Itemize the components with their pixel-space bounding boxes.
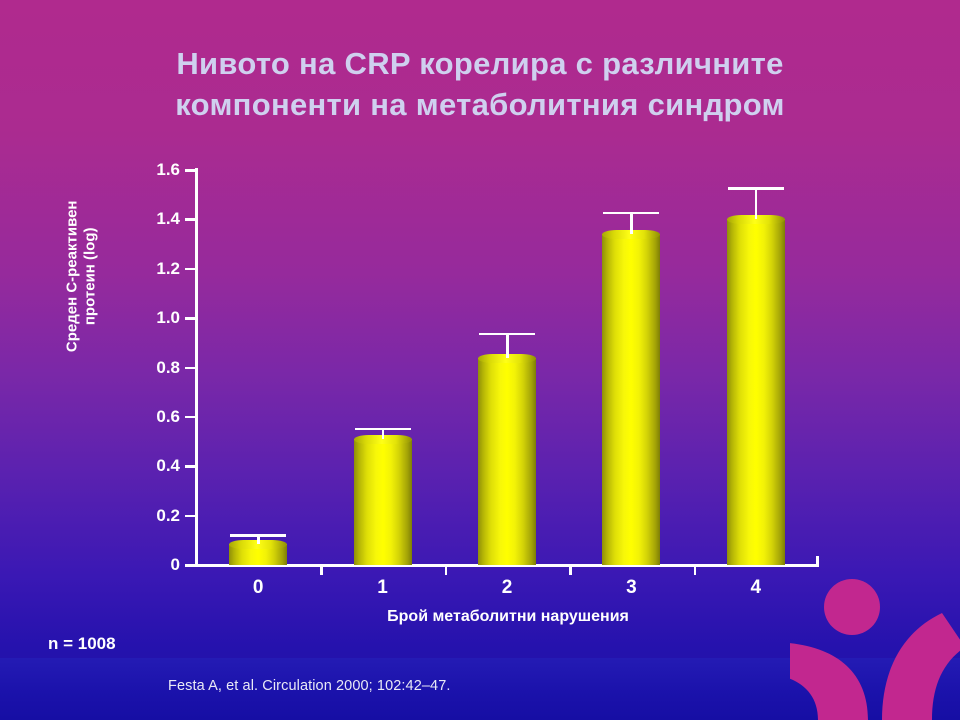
x-tick-label: 0 [228,577,288,599]
bar [478,358,536,565]
x-tick-label: 4 [726,577,786,599]
x-tick-label: 2 [477,577,537,599]
error-bar-line [755,187,758,219]
y-tick-label: 1.6 [120,160,180,180]
y-axis-title-line-2: протеин (log) [82,176,100,376]
x-tick-mark [694,564,697,575]
error-bar-cap [230,534,286,537]
x-tick-mark [445,564,448,575]
x-tick-mark [569,564,572,575]
y-tick-mark [185,416,196,419]
citation-text: Festa A, et al. Circulation 2000; 102:42… [168,678,451,694]
x-axis-end-tick [816,556,819,566]
y-tick-label: 0.4 [120,456,180,476]
y-tick-label: 0.8 [120,358,180,378]
y-tick-mark [185,515,196,518]
y-tick-label: 0.6 [120,407,180,427]
y-tick-mark [185,564,196,567]
error-bar-cap [603,212,659,215]
error-bar-cap [479,333,535,336]
y-tick-label: 1.4 [120,209,180,229]
y-tick-mark [185,317,196,320]
y-tick-mark [185,268,196,271]
y-axis-title: Среден С-реактивен протеин (log) [64,176,101,376]
x-tick-label: 3 [601,577,661,599]
bar [354,439,412,565]
error-bar-cap [355,428,411,431]
x-axis-title: Брой метаболитни нарушения [196,608,820,626]
bar-chart: Среден С-реактивен протеин (log) 00.20.4… [0,0,960,720]
y-axis-title-line-1: Среден С-реактивен [64,176,82,376]
y-tick-mark [185,218,196,221]
y-tick-label: 0.2 [120,506,180,526]
bar [602,234,660,565]
error-bar-cap [728,187,784,190]
y-tick-mark [185,465,196,468]
x-tick-label: 1 [353,577,413,599]
y-tick-label: 1.2 [120,259,180,279]
error-bar-line [630,212,633,234]
bar [727,219,785,565]
y-tick-mark [185,367,196,370]
y-tick-mark [185,169,196,172]
error-bar-line [506,333,509,358]
y-tick-label: 1.0 [120,308,180,328]
x-tick-mark [320,564,323,575]
y-tick-label: 0 [120,555,180,575]
